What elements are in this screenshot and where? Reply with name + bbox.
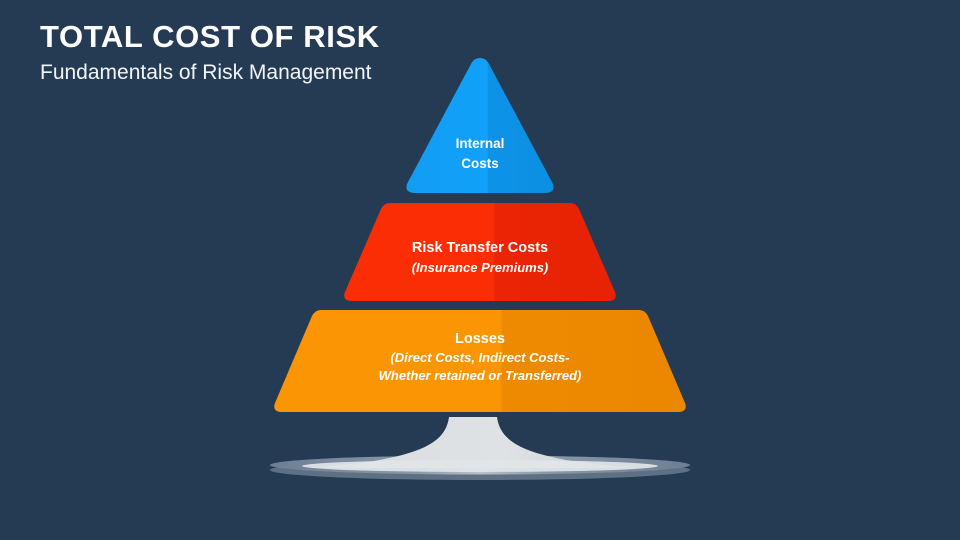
pyramid-diagram <box>0 0 960 540</box>
pyramid-tier-losses-shape[interactable] <box>274 310 686 412</box>
pyramid-tier-internal-costs[interactable] <box>406 58 553 193</box>
pedestal-stand <box>270 417 690 480</box>
pyramid-tier-risk-transfer-shape[interactable] <box>344 203 616 301</box>
pyramid-tier-risk-transfer[interactable] <box>344 203 616 301</box>
pyramid-tier-internal-costs-shape[interactable] <box>406 58 553 193</box>
slide-canvas: TOTAL COST OF RISK Fundamentals of Risk … <box>0 0 960 540</box>
pyramid-tier-losses[interactable] <box>274 310 686 412</box>
pedestal-column-base-highlight <box>302 460 658 472</box>
